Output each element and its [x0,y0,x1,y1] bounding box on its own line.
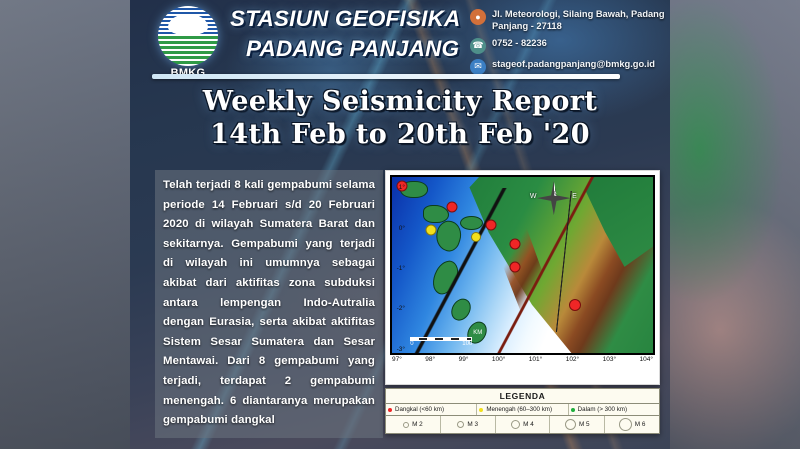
map-frame: W E KM 0 100 1°0°-1°-2°-3° [390,175,655,355]
contact-phone: ☎ 0752 - 82236 [470,37,670,54]
longitude-tick-labels: 97°98°99°100°101°102°103°104° [390,355,655,363]
location-pin-icon: ● [470,9,486,25]
legend-depth-label: Dangkal (<60 km) [395,406,444,413]
lon-tick-label: 99° [459,356,469,363]
lat-tick-label: -2° [390,305,405,312]
legend-magnitude-circle-icon [619,418,632,431]
lat-tick-label: 1° [390,184,405,191]
report-body-text: Telah terjadi 8 kali gempabumi selama pe… [163,176,375,431]
lat-tick-label: -3° [390,346,405,353]
epicenter-marker [509,238,520,249]
legend-magnitude-item: M 5 [550,416,605,433]
legend-depth-item: Menengah (60–300 km) [477,404,568,415]
legend-magnitude-label: M 4 [523,421,534,428]
seismicity-map: W E KM 0 100 1°0°-1°-2°-3° 97°98°99°100°… [385,170,660,385]
legend-depth-item: Dalam (> 300 km) [569,404,659,415]
report-screen: BMKG STASIUN GEOFISIKA PADANG PANJANG ● … [0,0,800,449]
report-header: BMKG STASIUN GEOFISIKA PADANG PANJANG ● … [130,0,670,84]
logo-cloud-icon [168,14,209,34]
scale-unit-label: KM [473,330,482,336]
organization-name: STASIUN GEOFISIKA PADANG PANJANG [230,4,490,63]
contact-block: ● Jl. Meteorologi, Silaing Bawah, Padang… [470,8,670,79]
legend-magnitude-item: M 6 [605,416,659,433]
lat-tick-label: 0° [390,225,405,232]
legend-magnitude-circle-icon [403,422,409,428]
bmkg-logo: BMKG [152,6,224,78]
legend-magnitude-label: M 3 [467,421,478,428]
compass-east-label: E [572,193,577,200]
report-text-panel: Telah terjadi 8 kali gempabumi selama pe… [155,170,383,438]
telephone-icon: ☎ [470,38,486,54]
contact-email[interactable]: ✉ stageof.padangpanjang@bmkg.go.id [470,58,670,75]
legend-magnitude-label: M 5 [579,421,590,428]
legend-depth-dot-icon [571,408,575,412]
org-line-2: PADANG PANJANG [230,34,490,64]
compass-rose-icon: W E [537,181,571,215]
email-icon: ✉ [470,59,486,75]
lon-tick-label: 104° [640,356,653,363]
scale-max-label: 100 [462,341,472,347]
report-content: BMKG STASIUN GEOFISIKA PADANG PANJANG ● … [130,0,670,449]
legend-depth-dot-icon [388,408,392,412]
legend-magnitude-circle-icon [457,421,464,428]
scale-min-label: 0 [410,341,413,347]
legend-title: LEGENDA [386,389,659,404]
org-line-1: STASIUN GEOFISIKA [230,4,490,34]
lon-tick-label: 102° [566,356,579,363]
epicenter-marker [509,261,520,272]
epicenter-marker [569,299,581,311]
legend-magnitude-item: M 4 [496,416,551,433]
epicenter-marker [426,224,437,235]
map-legend: LEGENDA Dangkal (<60 km)Menengah (60–300… [385,388,660,434]
legend-magnitude-label: M 2 [412,421,423,428]
lon-tick-label: 97° [392,356,402,363]
bmkg-logo-icon [158,6,218,66]
legend-depth-label: Menengah (60–300 km) [486,406,552,413]
lon-tick-label: 101° [529,356,542,363]
lon-tick-label: 98° [425,356,435,363]
map-scale-bar: KM 0 100 [410,337,472,347]
legend-magnitude-row: M 2M 3M 4M 5M 6 [386,416,659,433]
legend-magnitude-item: M 2 [386,416,441,433]
epicenter-marker [486,219,497,230]
compass-west-label: W [530,193,537,200]
lon-tick-label: 103° [603,356,616,363]
contact-address-text: Jl. Meteorologi, Silaing Bawah, Padang P… [492,8,670,33]
title-line-2: 14th Feb to 20th Feb '20 [130,119,670,152]
contact-address: ● Jl. Meteorologi, Silaing Bawah, Padang… [470,8,670,33]
legend-magnitude-item: M 3 [441,416,496,433]
lat-tick-label: -1° [390,265,405,272]
page-title: Weekly Seismicity Report 14th Feb to 20t… [130,86,670,152]
legend-magnitude-label: M 6 [635,421,646,428]
epicenter-marker [447,201,458,212]
contact-phone-text: 0752 - 82236 [492,37,547,49]
legend-magnitude-circle-icon [565,419,576,430]
contact-email-text: stageof.padangpanjang@bmkg.go.id [492,58,655,70]
legend-magnitude-circle-icon [511,420,520,429]
title-line-1: Weekly Seismicity Report [130,86,670,119]
compass-star-shape [537,181,571,215]
legend-depth-row: Dangkal (<60 km)Menengah (60–300 km)Dala… [386,404,659,416]
legend-depth-dot-icon [479,408,483,412]
header-divider [152,74,620,79]
legend-depth-label: Dalam (> 300 km) [578,406,627,413]
epicenter-marker [471,232,481,242]
legend-depth-item: Dangkal (<60 km) [386,404,477,415]
logo-land-shape [158,34,218,66]
lon-tick-label: 100° [492,356,505,363]
